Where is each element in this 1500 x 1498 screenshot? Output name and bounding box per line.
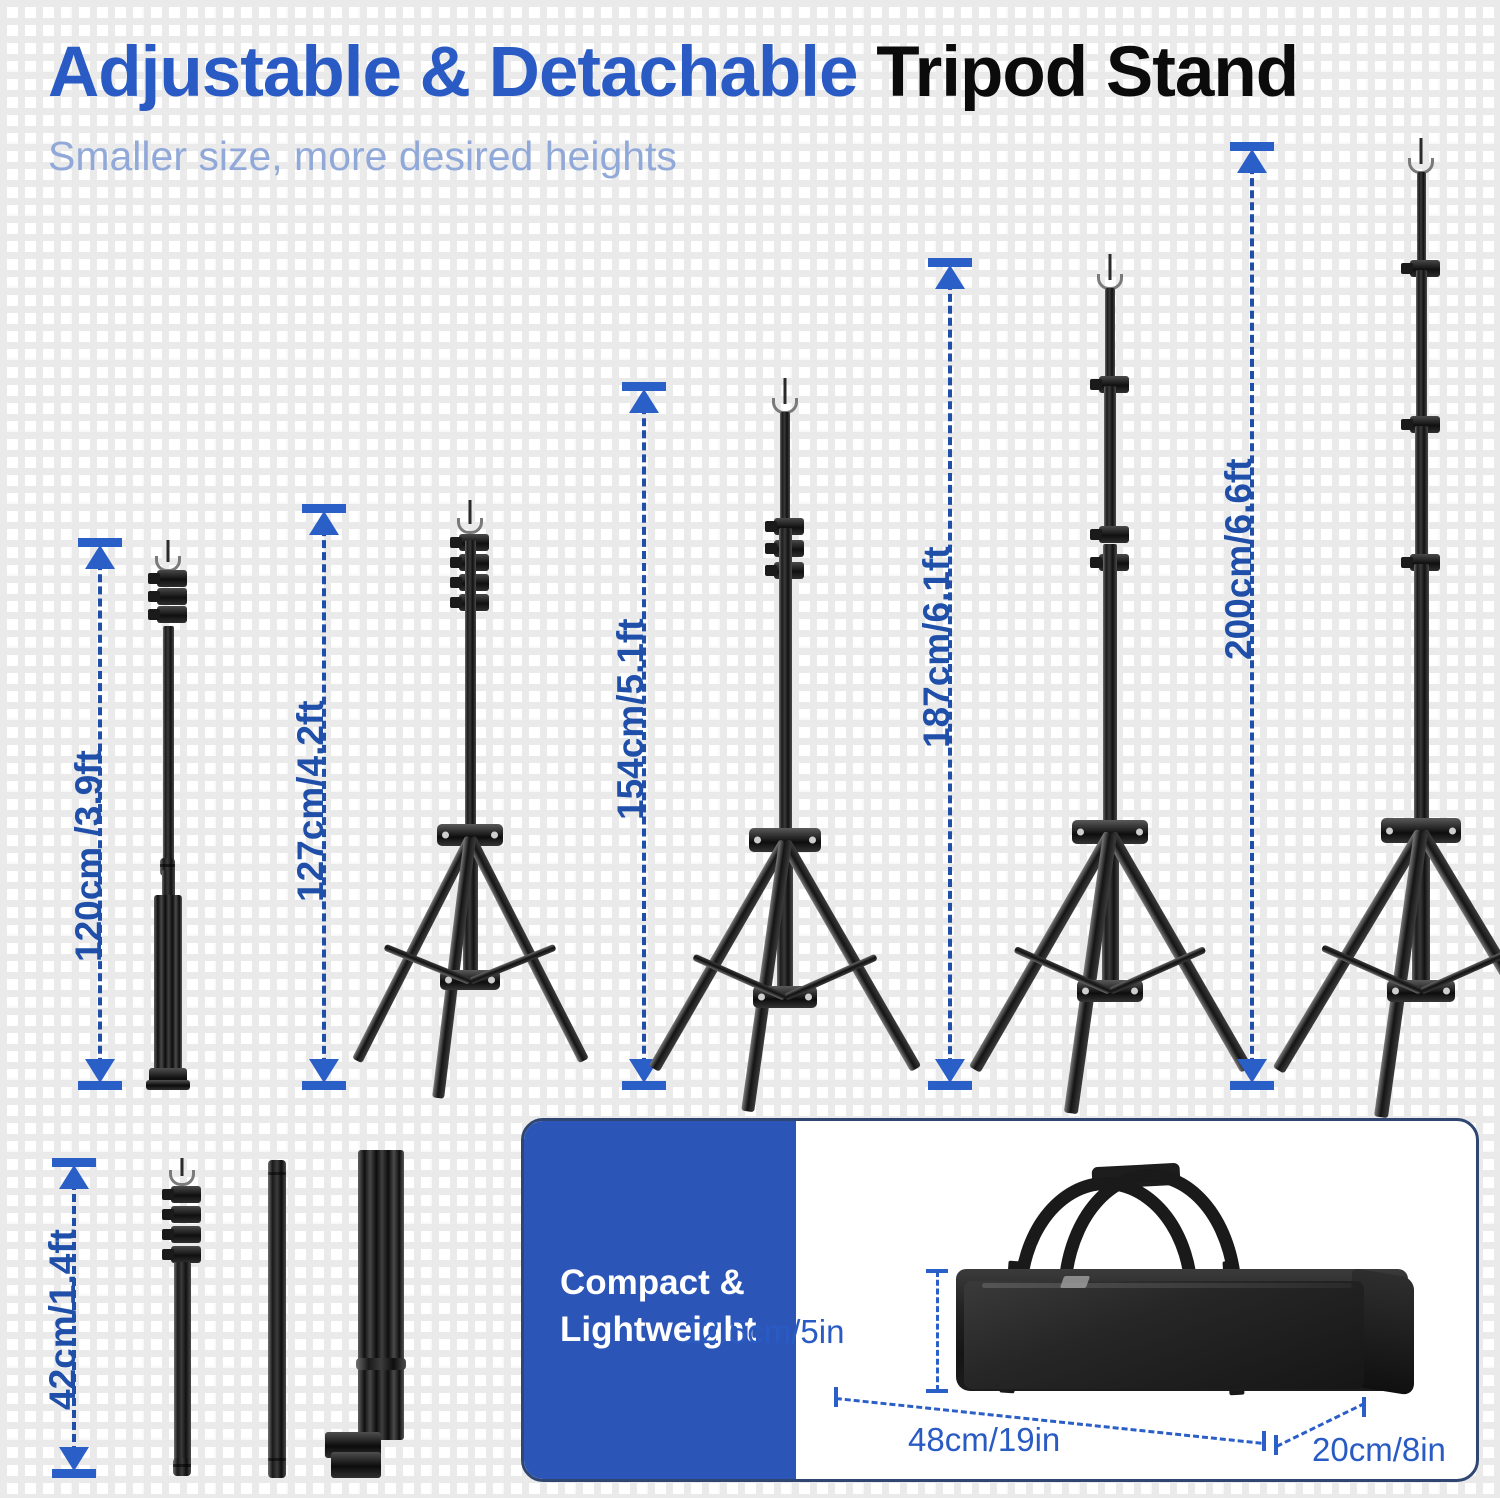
dim-arrowhead-top (59, 1165, 89, 1189)
bag-depth-tick-right (1362, 1397, 1366, 1417)
center-column-mid (1104, 386, 1116, 532)
locking-clamp (171, 1246, 201, 1263)
part-extension-tube (268, 1160, 286, 1478)
bag-height-tick-top (926, 1269, 948, 1273)
dim-arrowhead-top (85, 545, 115, 569)
dimension-label-154: 154cm/5.1ft (610, 618, 652, 820)
dim-arrowhead-bottom (85, 1059, 115, 1083)
dimension-label-120: 120cm /3.9ft (68, 750, 110, 962)
foot-base (146, 1080, 190, 1090)
bag-width-tick-left (834, 1387, 838, 1407)
center-column-mid2 (1415, 426, 1428, 560)
bag-zipper-pull (1060, 1276, 1090, 1288)
panel-blue-badge: Compact & Lightweight (524, 1121, 796, 1479)
dim-arrowhead-top (309, 511, 339, 535)
locking-clamp (171, 1186, 201, 1203)
center-column (1414, 564, 1429, 826)
locking-clamp (157, 606, 187, 623)
stand-187 (980, 254, 1240, 1090)
locking-clamp (171, 1206, 201, 1223)
dim-arrowhead-bottom (935, 1059, 965, 1083)
bag-zipper (982, 1283, 1352, 1288)
locking-clamp (157, 588, 187, 605)
bundle-foot-base (331, 1452, 381, 1478)
dimension-label-42: 42cm/1.4ft (42, 1229, 84, 1410)
part-extension-tube-ring-bottom (268, 1458, 286, 1461)
bundle-brace-joint (356, 1358, 406, 1370)
part-folded-leg-bundle (358, 1150, 404, 1440)
column-end-ring (173, 1458, 191, 1476)
center-column-lower (162, 870, 175, 898)
dim-arrowhead-top (1237, 149, 1267, 173)
center-column-mid (1416, 270, 1427, 422)
part-center-column (152, 1158, 212, 1478)
locking-clamp (1099, 526, 1129, 543)
folded-leg-bundle (154, 895, 182, 1080)
bag-depth-tick-left (1274, 1435, 1278, 1455)
tripod-leg-right (780, 839, 921, 1072)
locking-clamp (157, 570, 187, 587)
dim-arrowhead-bottom (309, 1059, 339, 1083)
dimension-label-200: 200cm/6.6ft (1218, 458, 1260, 660)
center-column (465, 540, 476, 830)
stand-collapsed (128, 540, 208, 1090)
bag-height-label: 12.5cm/5in (683, 1313, 844, 1351)
bag-width-tick-right (1262, 1431, 1266, 1451)
dim-arrowhead-bottom (59, 1447, 89, 1471)
locking-clamp (171, 1226, 201, 1243)
center-column-upper (780, 412, 790, 532)
stand-154 (660, 378, 910, 1090)
center-column-upper (1105, 288, 1115, 384)
center-column (163, 626, 174, 866)
fork-head-icon (457, 518, 483, 534)
bag-depth-label: 20cm/8in (1312, 1431, 1446, 1469)
bag-height-dim-line (936, 1271, 939, 1391)
column-tube (174, 1262, 191, 1472)
compact-lightweight-panel: Compact & Lightweight 12.5cm/5in 48cm/19… (521, 1118, 1479, 1482)
center-column (1103, 544, 1117, 830)
dim-arrowhead-top (629, 389, 659, 413)
center-column-upper (1417, 172, 1426, 268)
center-column (779, 528, 792, 838)
dim-arrowhead-bottom (1237, 1059, 1267, 1083)
bag-width-label: 48cm/19in (908, 1421, 1060, 1459)
bag-height-tick-bottom (926, 1389, 948, 1393)
dimension-label-127: 127cm/4.2ft (290, 700, 332, 902)
bag-front-panel (964, 1281, 1364, 1389)
dimension-label-187: 187cm/6.1ft (916, 546, 958, 748)
tripod-leg-right (466, 836, 589, 1064)
stand-200 (1286, 138, 1500, 1090)
carry-bag-figure: 12.5cm/5in 48cm/19in 20cm/8in (796, 1121, 1476, 1479)
fork-head-icon (169, 1170, 195, 1186)
stand-127 (350, 500, 590, 1090)
dim-arrowhead-top (935, 265, 965, 289)
part-extension-tube-ring-top (268, 1172, 286, 1175)
